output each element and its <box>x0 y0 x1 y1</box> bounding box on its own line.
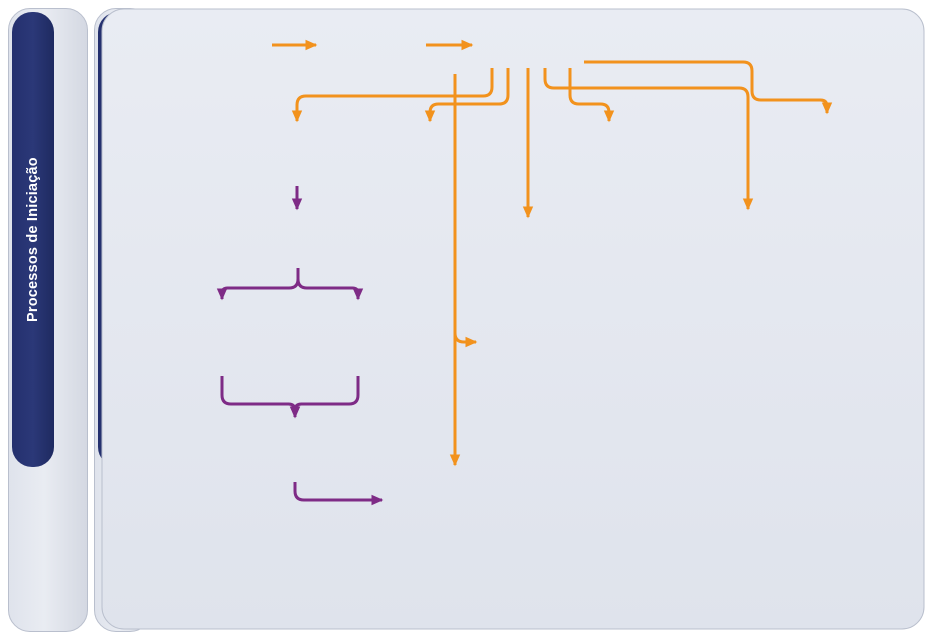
diagram-canvas: Processos de IniciaçãoProcessos de Plane… <box>0 0 930 638</box>
planning-panel <box>102 9 924 629</box>
flowchart-svg <box>0 0 930 638</box>
